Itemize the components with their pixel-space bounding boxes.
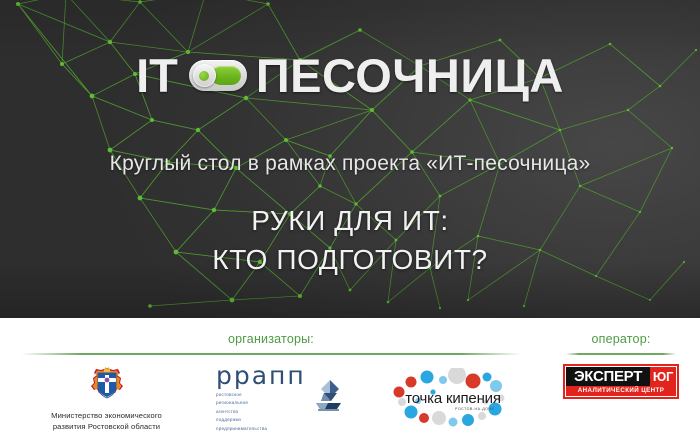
rrapp-subtext-line-5: предпринимательства (216, 425, 306, 433)
organizers-divider (21, 353, 521, 355)
brand-logo-it-text: IT (136, 52, 178, 99)
operator-caption: оператор: (542, 318, 700, 346)
logo-rrapp: ррапп ростовское региональное агентство … (216, 364, 361, 433)
rrapp-subtext-line-1: ростовское (216, 391, 306, 399)
event-headline: РУКИ ДЛЯ ИТ: КТО ПОДГОТОВИТ? (0, 202, 700, 279)
footer-section: организаторы: (0, 318, 700, 441)
rrapp-subtext-line-2: региональное (216, 399, 306, 407)
rrapp-wordmark: ррапп (216, 364, 306, 388)
expert-yug-name-accent: ЮГ (650, 367, 676, 386)
organizers-caption: организаторы: (0, 318, 542, 346)
logo-ministry: Министерство экономического развития Рос… (19, 366, 194, 432)
organizers-column: организаторы: (0, 318, 542, 441)
ministry-name: Министерство экономического развития Рос… (19, 410, 194, 432)
ministry-name-line-1: Министерство экономического (19, 410, 194, 421)
ministry-name-line-2: развития Ростовской области (19, 421, 194, 432)
brand-logo-word-text: ПЕСОЧНИЦА (256, 52, 564, 99)
brand-logo: IT ПЕСОЧНИЦА (0, 52, 700, 99)
tochka-kipeniya-subtext: РОСТОВ-НА-ДОНУ (455, 407, 494, 411)
operator-logos: ЭКСПЕРТ ЮГ АНАЛИТИЧЕСКИЙ ЦЕНТР (542, 364, 700, 399)
tochka-kipeniya-wordmark: точка кипения (389, 390, 517, 407)
rostov-coat-of-arms-icon (87, 366, 127, 403)
logo-expert-yug: ЭКСПЕРТ ЮГ АНАЛИТИЧЕСКИЙ ЦЕНТР (563, 364, 679, 399)
toggle-switch-icon (189, 60, 247, 91)
operator-column: оператор: ЭКСПЕРТ ЮГ АНАЛИТИЧЕСКИЙ ЦЕНТР (542, 318, 700, 441)
operator-divider (566, 353, 676, 355)
logo-tochka-kipeniya: точка кипения РОСТОВ-НА-ДОНУ (383, 368, 523, 430)
toggle-switch-knob (193, 64, 216, 87)
organizer-logos: Министерство экономического развития Рос… (0, 364, 542, 433)
poster-root: IT ПЕСОЧНИЦА Круглый стол в рамках проек… (0, 0, 700, 441)
expert-yug-name-main: ЭКСПЕРТ (566, 367, 650, 386)
rrapp-subtext: ростовское региональное агентство поддер… (216, 391, 306, 433)
headline-line-2: КТО ПОДГОТОВИТ? (0, 241, 700, 280)
rrapp-subtext-line-3: агентство (216, 408, 306, 416)
hero-section: IT ПЕСОЧНИЦА Круглый стол в рамках проек… (0, 0, 700, 318)
rrapp-subtext-line-4: поддержки (216, 416, 306, 424)
sailboat-icon (311, 379, 345, 413)
event-subtitle: Круглый стол в рамках проекта «ИТ-песочн… (0, 152, 700, 176)
expert-yug-tagline: АНАЛИТИЧЕСКИЙ ЦЕНТР (566, 386, 676, 396)
headline-line-1: РУКИ ДЛЯ ИТ: (0, 202, 700, 241)
